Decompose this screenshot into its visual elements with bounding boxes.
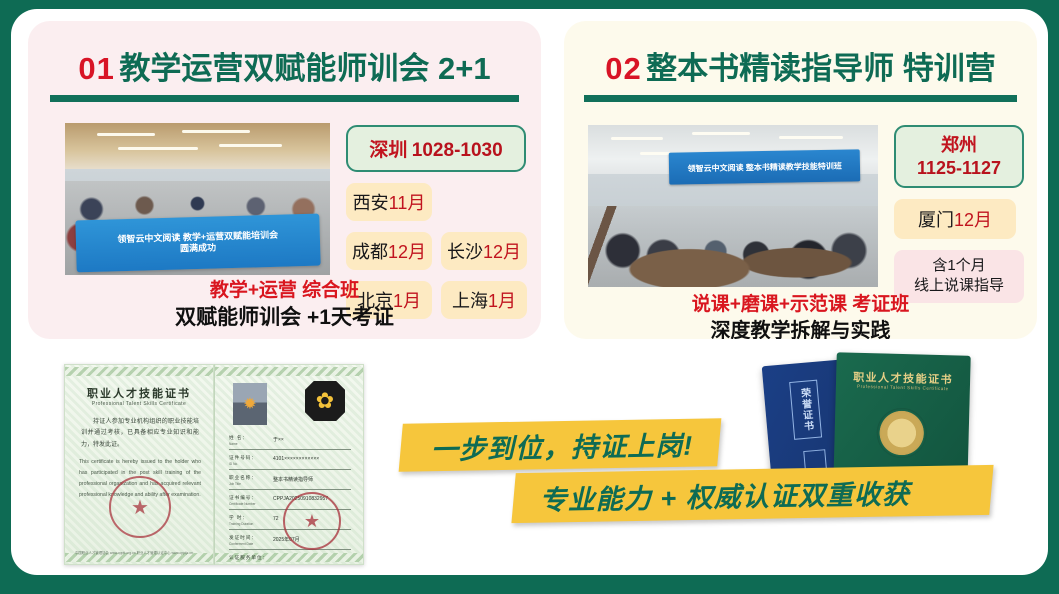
slogan-ribbon-1: 一步到位，持证上岗!	[399, 418, 722, 472]
card-01-footer-highlight: 教学+运营 综合班	[28, 279, 541, 304]
field-label-en: Training Duration	[229, 522, 253, 526]
card-02-header-rule	[584, 95, 1017, 102]
field-label-cn: 姓 名：	[229, 435, 248, 441]
certificate-wave-top	[215, 367, 363, 376]
poster-inner-panel: 01 教学运营双赋能师训会 2+1 领智云中文阅读	[11, 9, 1048, 575]
card-01-group-photo: 领智云中文阅读 教学+运营双赋能培训会 圆满成功	[65, 123, 330, 275]
course-card-02[interactable]: 02 整本书精读指导师 特训营 领智云中文阅读 整本书精读教学技能特训班	[564, 21, 1037, 339]
photo-banner: 领智云中文阅读 教学+运营双赋能培训会 圆满成功	[75, 214, 320, 272]
green-book-emblem-icon	[876, 407, 927, 458]
photo-banner-line1: 领智云中文阅读 整本书精读教学技能特训班	[688, 160, 842, 174]
field-value: 整本书精读指导师	[273, 476, 313, 483]
certificate-org-seal-icon	[283, 492, 341, 550]
badge-city: 西安	[353, 193, 389, 213]
badge-month: 12月	[388, 242, 426, 262]
schedule-row-1: 西安11月	[346, 183, 526, 221]
card-02-footer-subtitle: 深度教学拆解与实践	[564, 318, 1037, 339]
certificate-field: 姓 名： Name 于××	[229, 433, 351, 450]
photo-tables-students	[588, 206, 878, 287]
badge-month: 12月	[954, 210, 992, 230]
badge-month: 12月	[483, 242, 521, 262]
certificate-field: 认证服务单位：	[229, 553, 351, 565]
field-value: 4101××××××××××××	[273, 456, 319, 462]
card-01-number: 01	[78, 51, 114, 86]
field-value: 72	[273, 516, 279, 522]
card-02-title: 整本书精读指导师 特训营	[646, 51, 996, 86]
certificate-field: 证件号码： ID No. 4101××××××××××××	[229, 453, 351, 470]
card-02-footer-highlight: 说课+磨课+示范课 考证班	[564, 293, 1037, 318]
course-card-01[interactable]: 01 教学运营双赋能师训会 2+1 领智云中文阅读	[28, 21, 541, 339]
schedule-row-2: 成都12月 长沙12月	[346, 232, 526, 270]
field-label-en: Conferment Date	[229, 542, 253, 546]
photo-ceiling	[65, 123, 330, 169]
field-label-cn: 证件号码：	[229, 455, 257, 461]
certificate-spread-image: 职业人才技能证书 Professional Talent Skills Cert…	[64, 364, 364, 565]
photo-banner: 领智云中文阅读 整本书精读教学技能特训班	[669, 149, 861, 185]
card-01-featured-session[interactable]: 深圳 1028-1030	[346, 125, 526, 172]
card-02-schedule: 郑州 1125-1127 厦门12月 含1个月 线上说课指导	[894, 125, 1024, 303]
badge-city: 成都	[352, 242, 388, 262]
schedule-badge[interactable]: 成都12月	[346, 232, 432, 270]
certificate-title-cn: 职业人才技能证书	[65, 385, 213, 401]
note-line-1: 含1个月	[898, 256, 1020, 276]
field-label-en: Job Title	[229, 482, 241, 486]
certificate-paragraph-cn: 持证人参加专业机构组织的职业技能培训并通过考核，已具备相应专业知识和能力，特发此…	[81, 417, 199, 451]
schedule-badge[interactable]: 长沙12月	[441, 232, 527, 270]
featured-date: 1125-1127	[900, 157, 1018, 180]
field-label-cn: 认证服务单位：	[229, 555, 268, 561]
certificate-emblem-icon	[305, 381, 345, 421]
certificate-holder-photo	[233, 383, 267, 425]
slogan-ribbon-2-text: 专业能力 + 权威认证双重收获	[539, 472, 910, 517]
badge-city: 厦门	[918, 210, 954, 230]
slogan-ribbon-1-text: 一步到位，持证上岗!	[430, 423, 693, 466]
field-label-en: ID No.	[229, 462, 238, 466]
card-01-header: 01 教学运营双赋能师训会 2+1	[28, 43, 541, 88]
certificate-left-page: 职业人才技能证书 Professional Talent Skills Cert…	[64, 364, 214, 565]
photo-banner-line2: 圆满成功	[179, 243, 215, 254]
card-01-footer: 教学+运营 综合班 双赋能师训会 +1天考证	[28, 279, 541, 331]
featured-city: 郑州	[900, 134, 1018, 157]
card-02-classroom-photo: 领智云中文阅读 整本书精读教学技能特训班	[588, 125, 878, 287]
blue-book-title: 荣誉证书	[789, 380, 822, 440]
poster-frame: 01 教学运营双赋能师训会 2+1 领智云中文阅读	[0, 0, 1059, 594]
field-label-en: Certificate Number	[229, 502, 256, 506]
certificate-right-page: 姓 名： Name 于×× 证件号码： ID No. 4101×××××××××…	[214, 364, 364, 565]
field-label-cn: 职业名称：	[229, 475, 257, 481]
card-01-header-rule	[50, 95, 519, 102]
badge-city: 长沙	[447, 242, 483, 262]
photo-room-background: 领智云中文阅读 整本书精读教学技能特训班	[588, 125, 878, 287]
card-01-footer-subtitle: 双赋能师训会 +1天考证	[28, 304, 541, 331]
featured-date: 1028-1030	[412, 140, 503, 161]
slogan-ribbon-2: 专业能力 + 权威认证双重收获	[511, 465, 993, 523]
schedule-badge[interactable]: 厦门12月	[894, 199, 1016, 239]
field-label-cn: 学 时：	[229, 515, 248, 521]
card-02-header: 02 整本书精读指导师 特训营	[564, 43, 1037, 88]
certificate-seal-icon	[109, 476, 171, 538]
featured-city: 深圳	[369, 140, 407, 161]
field-label-en: Name	[229, 442, 238, 446]
certificate-field: 职业名称： Job Title 整本书精读指导师	[229, 473, 351, 490]
card-01-title: 教学运营双赋能师训会 2+1	[119, 51, 490, 86]
badge-month: 11月	[389, 193, 426, 213]
certificate-wave-top	[65, 367, 213, 376]
photo-room-background: 领智云中文阅读 教学+运营双赋能培训会 圆满成功	[65, 123, 330, 275]
certificate-title-en: Professional Talent Skills Certificate	[65, 401, 213, 407]
certificate-section: 职业人才技能证书 Professional Talent Skills Cert…	[11, 344, 1048, 575]
card-02-number: 02	[605, 51, 641, 86]
schedule-badge[interactable]: 西安11月	[346, 183, 432, 221]
certificate-footer-url: 中国职业人才管理协会 www.cpptt.org.cn 职业人才管理认证中心 w…	[75, 550, 193, 556]
course-cards-section: 01 教学运营双赋能师训会 2+1 领智云中文阅读	[11, 9, 1048, 344]
card-02-featured-session[interactable]: 郑州 1125-1127	[894, 125, 1024, 188]
field-label-cn: 证书编号：	[229, 495, 257, 501]
field-value: 于××	[273, 436, 284, 443]
card-02-footer: 说课+磨课+示范课 考证班 深度教学拆解与实践	[564, 293, 1037, 339]
schedule-row-1: 厦门12月	[894, 199, 1024, 239]
field-label-cn: 发证时间：	[229, 535, 257, 541]
